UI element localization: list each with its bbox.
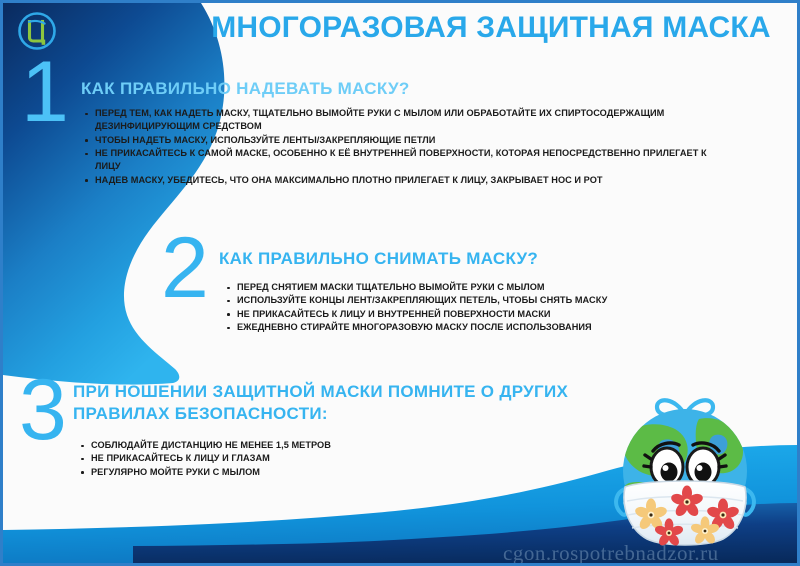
section-numeral-1: 1 [21, 49, 69, 135]
section-2-bullet-list: ПЕРЕД СНЯТИЕМ МАСКИ ТЩАТЕЛЬНО ВЫМОЙТЕ РУ… [225, 281, 705, 334]
list-item: ЕЖЕДНЕВНО СТИРАЙТЕ МНОГОРАЗОВУЮ МАСКУ ПО… [225, 321, 705, 334]
list-item: НАДЕВ МАСКУ, УБЕДИТЕСЬ, ЧТО ОНА МАКСИМАЛ… [83, 174, 733, 187]
section-heading-1: КАК ПРАВИЛЬНО НАДЕВАТЬ МАСКУ? [81, 79, 410, 99]
page-title: МНОГОРАЗОВАЯ ЗАЩИТНАЯ МАСКА [193, 11, 789, 45]
infographic-poster: МНОГОРАЗОВАЯ ЗАЩИТНАЯ МАСКА 1 КАК ПРАВИЛ… [0, 0, 800, 566]
list-item: СОБЛЮДАЙТЕ ДИСТАНЦИЮ НЕ МЕНЕЕ 1,5 МЕТРОВ [79, 439, 499, 452]
list-item: ПЕРЕД ТЕМ, КАК НАДЕТЬ МАСКУ, ТЩАТЕЛЬНО В… [83, 107, 733, 134]
earth-globe-mascot-icon [599, 375, 771, 547]
watermark-text: cgon.rospotrebnadzor.ru [503, 541, 719, 563]
section-heading-2: КАК ПРАВИЛЬНО СНИМАТЬ МАСКУ? [219, 249, 538, 269]
section-heading-3: ПРИ НОШЕНИИ ЗАЩИТНОЙ МАСКИ ПОМНИТЕ О ДРУ… [73, 381, 593, 425]
poster-stage: МНОГОРАЗОВАЯ ЗАЩИТНАЯ МАСКА 1 КАК ПРАВИЛ… [3, 3, 797, 563]
section-numeral-3: 3 [19, 367, 67, 453]
section-numeral-2: 2 [161, 225, 209, 311]
list-item: РЕГУЛЯРНО МОЙТЕ РУКИ С МЫЛОМ [79, 466, 499, 479]
section-1-bullet-list: ПЕРЕД ТЕМ, КАК НАДЕТЬ МАСКУ, ТЩАТЕЛЬНО В… [83, 107, 733, 187]
list-item: ЧТОБЫ НАДЕТЬ МАСКУ, ИСПОЛЬЗУЙТЕ ЛЕНТЫ/ЗА… [83, 134, 733, 147]
list-item: ПЕРЕД СНЯТИЕМ МАСКИ ТЩАТЕЛЬНО ВЫМОЙТЕ РУ… [225, 281, 705, 294]
list-item: НЕ ПРИКАСАЙТЕСЬ К ЛИЦУ И ВНУТРЕННЕЙ ПОВЕ… [225, 308, 705, 321]
list-item: НЕ ПРИКАСАЙТЕСЬ К САМОЙ МАСКЕ, ОСОБЕННО … [83, 147, 733, 174]
list-item: ИСПОЛЬЗУЙТЕ КОНЦЫ ЛЕНТ/ЗАКРЕПЛЯЮЩИХ ПЕТЕ… [225, 294, 705, 307]
list-item: НЕ ПРИКАСАЙТЕСЬ К ЛИЦУ И ГЛАЗАМ [79, 452, 499, 465]
section-3-bullet-list: СОБЛЮДАЙТЕ ДИСТАНЦИЮ НЕ МЕНЕЕ 1,5 МЕТРОВ… [79, 439, 499, 479]
